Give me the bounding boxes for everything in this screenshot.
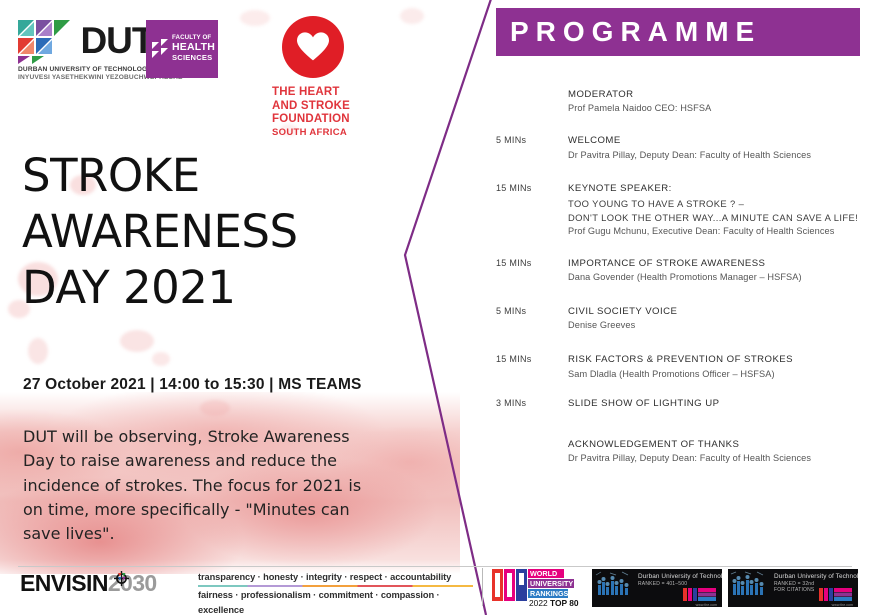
programme-row-duration [496, 88, 568, 116]
badge2-title: Durban University of Technology [774, 573, 858, 580]
programme-row-subtitle: DON'T LOOK THE OTHER WAY...A MINUTE CAN … [568, 211, 870, 225]
programme-row-duration: 3 MINs [496, 397, 568, 411]
programme-row-duration: 15 MINs [496, 257, 568, 285]
programme-row-speaker: Dr Pavitra Pillay, Deputy Dean: Faculty … [568, 452, 870, 466]
programme-row-speaker: Dr Pavitra Pillay, Deputy Dean: Faculty … [568, 149, 870, 163]
hsf-text: THE HEART AND STROKE FOUNDATION SOUTH AF… [272, 86, 362, 138]
programme-row-speaker: Dana Govender (Health Promotions Manager… [568, 271, 870, 285]
programme-row: 5 MINsWELCOMEDr Pavitra Pillay, Deputy D… [496, 134, 870, 162]
programme-row-body: WELCOMEDr Pavitra Pillay, Deputy Dean: F… [568, 134, 870, 162]
title-line-3: DAY 2021 [22, 260, 402, 316]
the-world-university-rankings-logo: WORLD UNIVERSITY RANKINGS 2022 TOP 80 [492, 567, 584, 608]
programme-row-body: KEYNOTE SPEAKER:TOO YOUNG TO HAVE A STRO… [568, 182, 870, 238]
values-line-2: fairness · professionalism · commitment … [198, 588, 476, 615]
watercolor-spot [28, 338, 48, 364]
faculty-arrow-icon [151, 38, 169, 60]
programme-row-body: CIVIL SOCIETY VOICEDenise Greeves [568, 305, 870, 333]
event-description: DUT will be observing, Stroke Awareness … [23, 425, 383, 547]
faculty-line-3: SCIENCES [172, 54, 215, 63]
envision-part-3: N [92, 570, 108, 596]
page-title: STROKE AWARENESS DAY 2021 [22, 148, 402, 315]
programme-row-speaker: Sam Dladla (Health Promotions Officer – … [568, 368, 870, 382]
logo-bar: DUT DURBAN UNIVERSITY OF TECHNOLOGY INYU… [0, 0, 400, 140]
dut-wordmark: DUT [80, 18, 153, 64]
faculty-text: FACULTY OF HEALTH SCIENCES [172, 35, 215, 62]
programme-row-title: SLIDE SHOW OF LIGHTING UP [568, 397, 870, 411]
watercolor-spot [200, 400, 230, 416]
watercolor-spot [120, 330, 154, 352]
programme-row-body: MODERATORProf Pamela Naidoo CEO: HSFSA [568, 88, 870, 116]
badge-crowd-artwork [592, 569, 636, 607]
programme-list: MODERATORProf Pamela Naidoo CEO: HSFSA5 … [496, 88, 870, 484]
programme-row-body: ACKNOWLEDGEMENT OF THANKSDr Pavitra Pill… [568, 438, 870, 466]
badge1-url: www.the.com [696, 603, 717, 607]
svg-text:WORLD: WORLD [530, 569, 557, 578]
programme-row: 3 MINsSLIDE SHOW OF LIGHTING UP [496, 397, 870, 411]
programme-row-duration: 15 MINs [496, 182, 568, 238]
ranking-badge-citations: Durban University of Technology RANKED =… [728, 569, 858, 607]
programme-row-speaker: Prof Pamela Naidoo CEO: HSFSA [568, 102, 870, 116]
svg-text:UNIVERSITY: UNIVERSITY [530, 579, 573, 588]
values-color-rule [198, 585, 473, 587]
dut-pinwheel-icon [18, 18, 72, 64]
programme-row-title: ACKNOWLEDGEMENT OF THANKS [568, 438, 870, 452]
programme-row-body: IMPORTANCE OF STROKE AWARENESSDana Goven… [568, 257, 870, 285]
badge1-title: Durban University of Technology [638, 573, 722, 580]
programme-row-duration [496, 438, 568, 466]
programme-row: ACKNOWLEDGEMENT OF THANKSDr Pavitra Pill… [496, 438, 870, 466]
footer-divider [18, 566, 852, 567]
hsf-line-1: THE HEART [272, 86, 362, 100]
programme-row-duration: 5 MINs [496, 134, 568, 162]
programme-row-speaker: Prof Gugu Mchunu, Executive Dean: Facult… [568, 225, 870, 239]
svg-text:2022: 2022 [529, 598, 548, 608]
programme-heading: PROGRAMME [496, 8, 860, 56]
poster-canvas: DUT DURBAN UNIVERSITY OF TECHNOLOGY INYU… [0, 0, 870, 615]
programme-row-body: RISK FACTORS & PREVENTION OF STROKESSam … [568, 353, 870, 381]
footer-vertical-rule [482, 568, 483, 606]
programme-row-duration: 5 MINs [496, 305, 568, 333]
dut-values: transparency · honesty · integrity · res… [198, 570, 476, 615]
programme-row-title: MODERATOR [568, 88, 870, 102]
programme-row: 15 MINsRISK FACTORS & PREVENTION OF STRO… [496, 353, 870, 381]
heart-circle [282, 16, 344, 78]
envision-part-2: ISI [66, 570, 92, 596]
programme-row-speaker: Denise Greeves [568, 319, 870, 333]
programme-row-body: SLIDE SHOW OF LIGHTING UP [568, 397, 870, 411]
envision-part-1: ENV [20, 570, 66, 596]
hsf-line-3: FOUNDATION [272, 113, 362, 127]
programme-row: 15 MINsKEYNOTE SPEAKER:TOO YOUNG TO HAVE… [496, 182, 870, 238]
the-mini-logo-icon [819, 588, 853, 603]
envision-2030-logo: ENVISIN2030 [20, 570, 157, 597]
svg-text:TOP 80: TOP 80 [550, 598, 579, 608]
programme-row-title: CIVIL SOCIETY VOICE [568, 305, 870, 319]
badge2-rank-detail: FOR CITATIONS [774, 587, 814, 593]
badge2-url: www.the.com [832, 603, 853, 607]
svg-text:RANKINGS: RANKINGS [530, 589, 569, 598]
event-datetime-venue: 27 October 2021 | 14:00 to 15:30 | MS TE… [23, 376, 423, 394]
the-mini-logo-icon [683, 588, 717, 603]
hsf-line-2: AND STROKE [272, 100, 362, 114]
faculty-of-health-sciences-logo: FACULTY OF HEALTH SCIENCES [146, 20, 218, 78]
programme-row-title: WELCOME [568, 134, 870, 148]
programme-row: 15 MINsIMPORTANCE OF STROKE AWARENESSDan… [496, 257, 870, 285]
watercolor-spot [152, 352, 170, 366]
programme-row-title: RISK FACTORS & PREVENTION OF STROKES [568, 353, 870, 367]
badge1-rank: RANKED = 401–500 [638, 581, 687, 587]
envision-target-icon [114, 571, 129, 586]
heart-icon [296, 31, 330, 61]
programme-row-title: IMPORTANCE OF STROKE AWARENESS [568, 257, 870, 271]
values-line-1: transparency · honesty · integrity · res… [198, 570, 476, 584]
ranking-badge-401-500: Durban University of Technology RANKED =… [592, 569, 722, 607]
programme-row: MODERATORProf Pamela Naidoo CEO: HSFSA [496, 88, 870, 116]
programme-row-title: KEYNOTE SPEAKER: [568, 182, 870, 196]
hsf-line-4: SOUTH AFRICA [272, 127, 362, 138]
programme-row-duration: 15 MINs [496, 353, 568, 381]
title-line-1: STROKE [22, 148, 402, 204]
badge-crowd-artwork [728, 569, 772, 607]
programme-row: 5 MINsCIVIL SOCIETY VOICEDenise Greeves [496, 305, 870, 333]
heart-and-stroke-foundation-logo: THE HEART AND STROKE FOUNDATION SOUTH AF… [272, 16, 362, 138]
programme-row-subtitle: TOO YOUNG TO HAVE A STROKE ? – [568, 197, 870, 211]
title-line-2: AWARENESS [22, 204, 402, 260]
